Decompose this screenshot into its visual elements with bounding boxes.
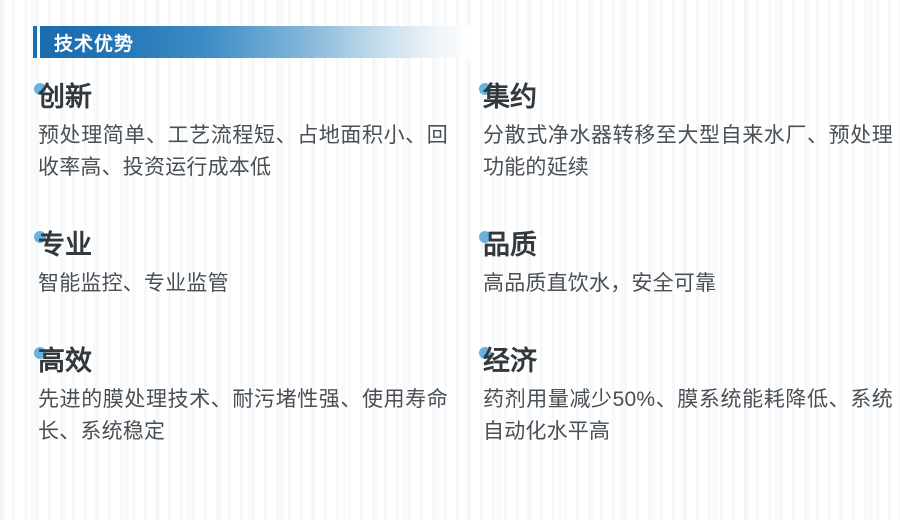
advantage-item: 专业 智能监控、专业监管 — [33, 230, 453, 300]
section-title: 技术优势 — [54, 29, 134, 56]
section-header-banner: 技术优势 — [33, 26, 472, 58]
advantage-heading-label: 经济 — [483, 346, 537, 376]
advantage-description: 智能监控、专业监管 — [33, 268, 448, 300]
slide-root: 技术优势 创新 预处理简单、工艺流程短、占地面积小、回收率高、投资运行成本低 专… — [0, 0, 900, 520]
advantage-heading: 集约 — [478, 82, 537, 113]
banner-gradient-band: 技术优势 — [40, 26, 472, 58]
advantage-description: 高品质直饮水，安全可靠 — [478, 268, 893, 300]
advantage-heading-label: 创新 — [38, 82, 92, 112]
advantage-description: 分散式净水器转移至大型自来水厂、预处理功能的延续 — [478, 120, 893, 184]
advantage-item: 经济 药剂用量减少50%、膜系统能耗降低、系统自动化水平高 — [478, 346, 898, 448]
advantage-item: 高效 先进的膜处理技术、耐污堵性强、使用寿命长、系统稳定 — [33, 346, 453, 448]
advantage-item: 集约 分散式净水器转移至大型自来水厂、预处理功能的延续 — [478, 82, 898, 184]
advantage-heading: 品质 — [478, 230, 537, 261]
advantage-heading-label: 专业 — [38, 230, 92, 260]
advantage-heading: 专业 — [33, 230, 92, 261]
advantage-description: 药剂用量减少50%、膜系统能耗降低、系统自动化水平高 — [478, 384, 893, 448]
advantage-heading: 经济 — [478, 346, 537, 377]
advantage-heading: 高效 — [33, 346, 92, 377]
advantage-item: 创新 预处理简单、工艺流程短、占地面积小、回收率高、投资运行成本低 — [33, 82, 453, 184]
advantage-heading: 创新 — [33, 82, 92, 113]
advantage-description: 预处理简单、工艺流程短、占地面积小、回收率高、投资运行成本低 — [33, 120, 448, 184]
advantage-item: 品质 高品质直饮水，安全可靠 — [478, 230, 898, 300]
advantage-description: 先进的膜处理技术、耐污堵性强、使用寿命长、系统稳定 — [33, 384, 448, 448]
advantage-heading-label: 品质 — [483, 230, 537, 260]
advantage-heading-label: 高效 — [38, 346, 92, 376]
advantage-heading-label: 集约 — [483, 82, 537, 112]
